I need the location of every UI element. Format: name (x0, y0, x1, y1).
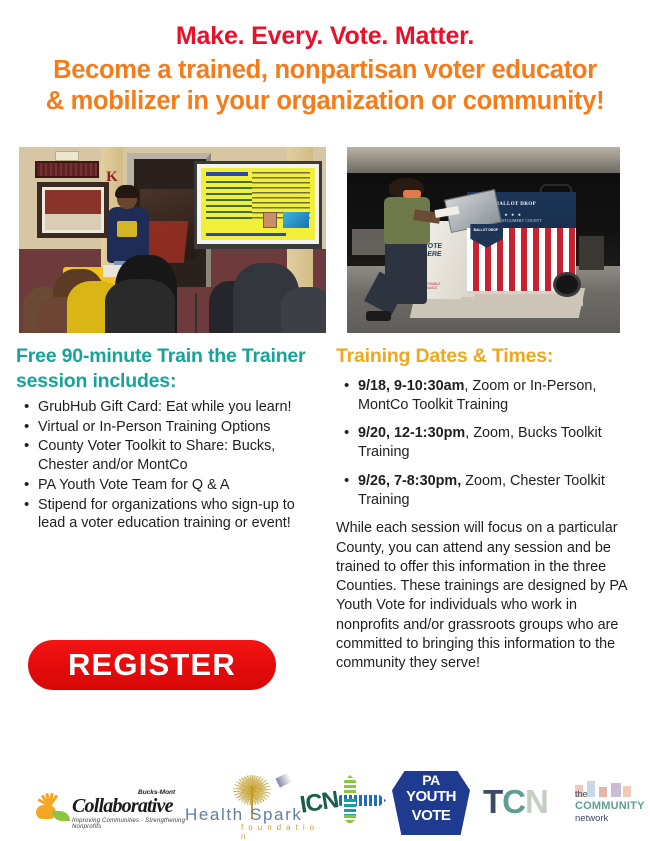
right-column: Training Dates & Times: 9/18, 9-10:30am,… (336, 344, 636, 674)
list-item: PA Youth Vote Team for Q & A (38, 476, 316, 495)
list-item: County Voter Toolkit to Share: Bucks, Ch… (38, 437, 316, 474)
icn-teal-block-icon (344, 799, 356, 815)
headline-block: Make. Every. Vote. Matter. Become a trai… (0, 0, 650, 117)
icn-wordmark: ICN (298, 786, 340, 820)
training-dates-heading: Training Dates & Times: (336, 344, 636, 369)
pa-youth-vote-logo: PA YOUTH VOTE (392, 771, 470, 835)
entrance-canopy (347, 147, 620, 173)
headline-secondary-line2: & mobilizer in your organization or comm… (10, 86, 640, 117)
drop-box-stars: ★ ★ ★ (504, 212, 522, 217)
audience-member (105, 279, 175, 333)
slide-title-bar (206, 172, 248, 176)
tcn-logo: TCN the COMMUNITY network (483, 779, 633, 827)
session-includes-heading: Free 90-minute Train the Trainer session… (16, 344, 316, 394)
photo-row: K A (0, 147, 650, 335)
session-datetime: 9/18, 9-10:30am (358, 378, 464, 394)
presenter-hair (115, 185, 139, 198)
left-column: Free 90-minute Train the Trainer session… (16, 344, 316, 534)
drop-box-wheel (553, 272, 581, 297)
voter-shoe (366, 311, 391, 321)
voter-face-mask (403, 190, 421, 198)
health-spark-wordmark: Health Spark (185, 805, 302, 825)
framed-wall-photo (37, 182, 109, 238)
drop-box-label: BALLOT DROP (495, 202, 536, 207)
session-includes-list: GrubHub Gift Card: Eat while you learn! … (16, 398, 316, 533)
session-datetime: 9/26, 7-8:30pm, (358, 473, 461, 489)
drop-box-county-label: MONTGOMERY COUNTY (495, 219, 542, 223)
dandelion-seed-icon (276, 772, 293, 787)
wall-sign (55, 151, 79, 161)
sunrise-icon (28, 793, 72, 821)
partner-logo-strip: Bucks-Mont Collaborative Improving Commu… (0, 763, 650, 841)
list-item: 9/18, 9-10:30am, Zoom or In-Person, Mont… (358, 377, 636, 414)
pa-youth-vote-line2: YOUTH (392, 788, 470, 805)
collaborative-wordmark: Collaborative (72, 795, 173, 818)
headline-secondary-line1: Become a trained, nonpartisan voter educ… (10, 55, 640, 86)
voter-figure (377, 180, 437, 318)
collaborative-tagline: Improving Communities · Strengthening No… (72, 818, 188, 830)
tcn-letter-c: C (502, 783, 525, 820)
slide-bullet-lines (206, 181, 252, 221)
framed-photo-image (45, 190, 101, 230)
list-item: Virtual or In-Person Training Options (38, 418, 316, 437)
list-item: GrubHub Gift Card: Eat while you learn! (38, 398, 316, 417)
list-item: 9/26, 7-8:30pm, Zoom, Chester Toolkit Tr… (358, 472, 636, 509)
session-datetime: 9/20, 12-1:30pm (358, 425, 465, 441)
icn-horizontal-bar-icon (334, 795, 386, 806)
drop-box-badge-text: BALLOT DROP (474, 228, 499, 232)
dandelion-puff-icon (233, 775, 271, 805)
projected-slide (201, 168, 315, 240)
ballot-drop-box: BALLOT DROP ★ ★ ★ MONTGOMERY COUNTY BALL… (467, 192, 576, 300)
leaf-icon (52, 811, 70, 821)
projector-screen (194, 161, 322, 249)
pa-youth-vote-line1: PA (392, 772, 470, 788)
presenter-hoodie-logo (117, 221, 137, 237)
headline-primary: Make. Every. Vote. Matter. (10, 22, 640, 51)
tcn-community-label: COMMUNITY (575, 800, 645, 812)
audience-member (281, 287, 326, 333)
tcn-wordmark: TCN (483, 783, 548, 821)
tcn-letter-t: T (483, 783, 502, 820)
tcn-network-label: network (575, 813, 608, 824)
list-item: 9/20, 12-1:30pm, Zoom, Bucks Toolkit Tra… (358, 424, 636, 461)
drop-box-base (461, 297, 583, 306)
bucks-mont-collaborative-logo: Bucks-Mont Collaborative Improving Commu… (28, 785, 188, 829)
pa-youth-vote-line3: VOTE (392, 807, 470, 824)
slide-graphic (283, 212, 309, 228)
icn-logo: ICN (300, 777, 390, 827)
slide-portrait (263, 212, 277, 228)
ballot-drop-box-photo: VOTE HERE ACCESSIBLE ENTRANCE BALLOT DRO… (347, 147, 620, 333)
list-item: Stipend for organizations who sign-up to… (38, 496, 316, 533)
register-button-area: REGISTER (16, 640, 316, 690)
register-button[interactable]: REGISTER (28, 640, 276, 690)
training-dates-list: 9/18, 9-10:30am, Zoom or In-Person, Mont… (336, 377, 636, 509)
training-session-photo: K A (19, 147, 326, 333)
tcn-the-label: the (575, 789, 588, 799)
training-description-paragraph: While each session will focus on a parti… (336, 519, 636, 673)
slide-footer-bar (206, 233, 286, 236)
headline-secondary: Become a trained, nonpartisan voter educ… (10, 55, 640, 117)
trash-bin (579, 236, 604, 269)
tcn-letter-n: N (525, 783, 548, 820)
wall-plaque (35, 161, 99, 178)
